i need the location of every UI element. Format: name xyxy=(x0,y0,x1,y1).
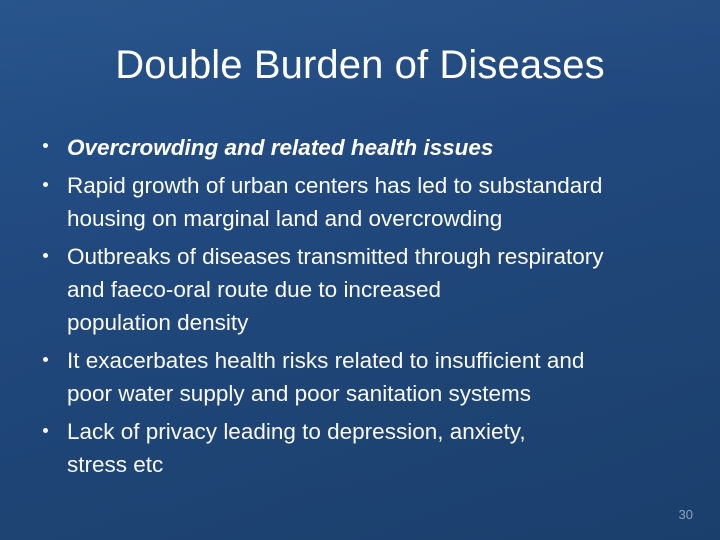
bullet-text-4: It exacerbates health risks related to i… xyxy=(67,344,698,410)
bullet-item-3: Outbreaks of diseases transmitted throug… xyxy=(36,240,698,339)
bullet-item-2: Rapid growth of urban centers has led to… xyxy=(36,169,698,235)
bullet-dot-icon xyxy=(43,182,48,187)
bullet-item-1: Overcrowding and related health issues xyxy=(36,131,698,164)
bullet-dot-icon xyxy=(43,357,48,362)
bullet-text-3: Outbreaks of diseases transmitted throug… xyxy=(67,240,698,339)
bullet-text-2: Rapid growth of urban centers has led to… xyxy=(67,169,698,235)
bullet-text-1: Overcrowding and related health issues xyxy=(67,131,698,164)
bullet-item-4: It exacerbates health risks related to i… xyxy=(36,344,698,410)
bullet-dot-icon xyxy=(43,143,48,148)
slide-page-number: 30 xyxy=(679,507,693,522)
bullet-text-5: Lack of privacy leading to depression, a… xyxy=(67,415,698,481)
bullet-dot-icon xyxy=(43,428,48,433)
slide-title: Double Burden of Diseases xyxy=(0,42,720,88)
bullet-item-5: Lack of privacy leading to depression, a… xyxy=(36,415,698,481)
bullet-dot-icon xyxy=(43,253,48,258)
presentation-slide: Double Burden of Diseases Overcrowding a… xyxy=(0,0,720,540)
slide-body-content: Overcrowding and related health issues R… xyxy=(36,131,698,481)
